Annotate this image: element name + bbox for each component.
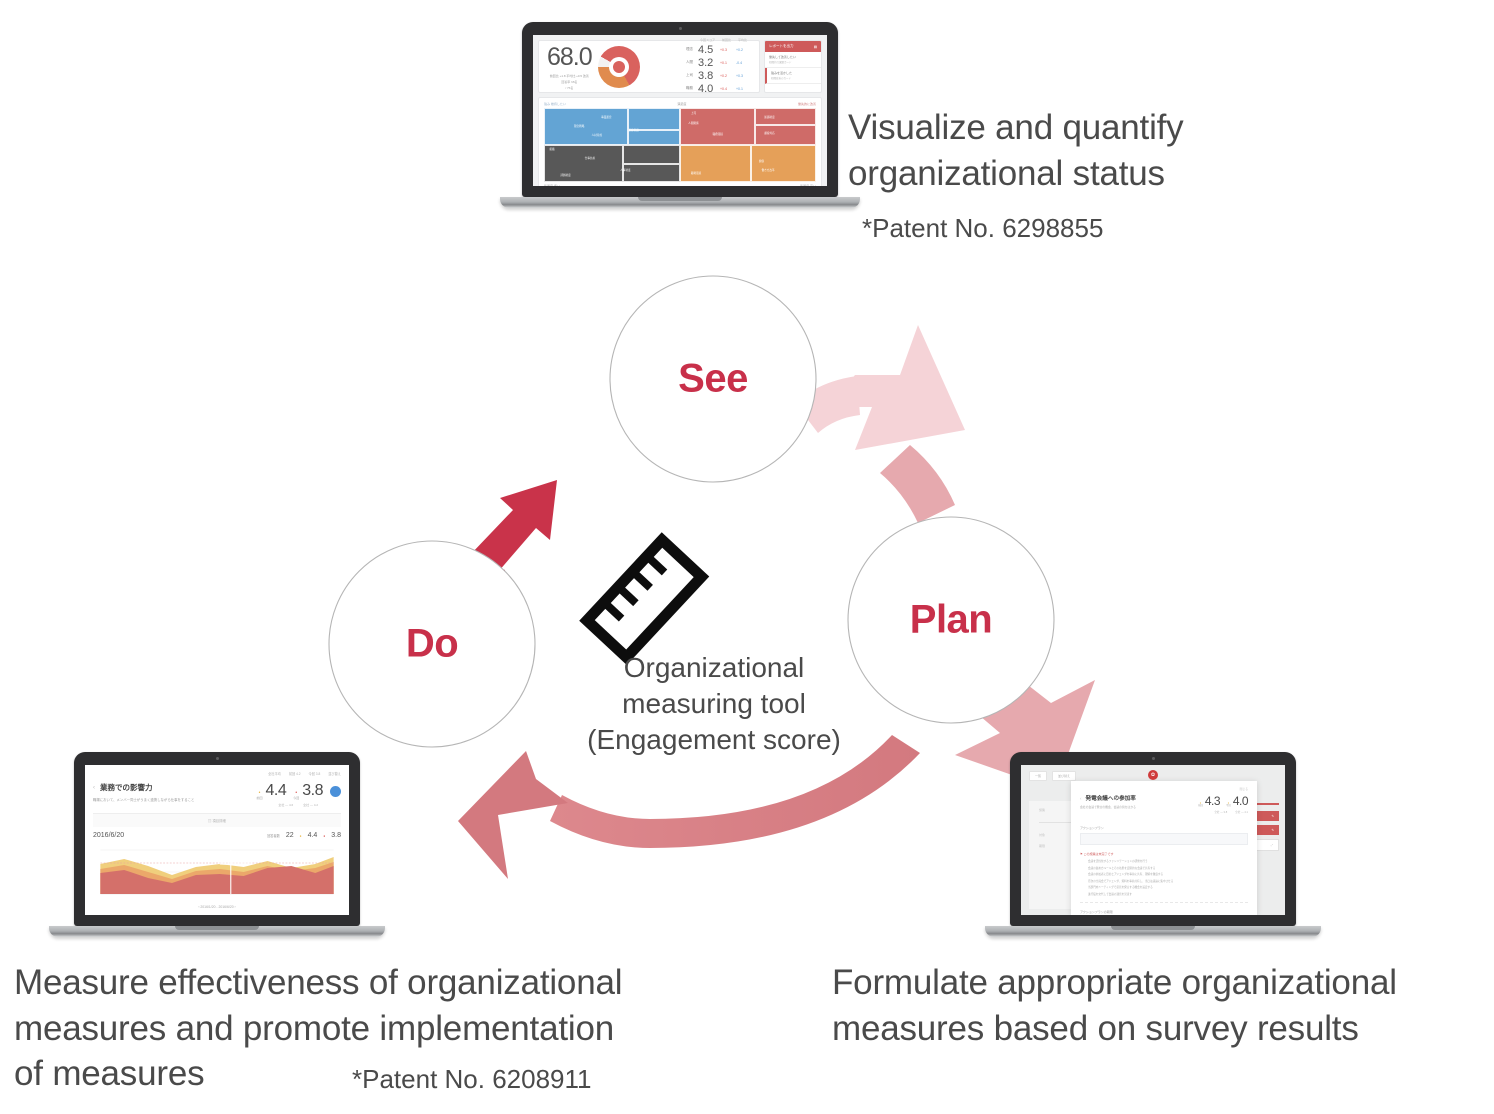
- red-dot-icon: ●: [323, 834, 325, 838]
- treemap-label-improve: 優先的に改善: [798, 102, 816, 106]
- toolbar-item[interactable]: 全社平均: [268, 771, 281, 776]
- toolbar-item[interactable]: 並び替え: [328, 771, 341, 776]
- treemap-quadrant-blue[interactable]: 事業運営 理念戦略 人材育成 顧客意識: [544, 108, 680, 145]
- metrics-table: 今回スコア 前回比 平均比 理念 4.5 +0.3 +0.2: [683, 38, 747, 96]
- laptop-notch: [638, 197, 722, 201]
- modal-description: 会社の会議で発言の機会、会議の質をはかる: [1080, 805, 1136, 809]
- donut-chart: [598, 46, 640, 88]
- chart-date: 2016/6/20: [93, 832, 124, 839]
- score-previous: •前回 4.3: [1198, 794, 1220, 808]
- score-label: •前回: [1198, 801, 1203, 808]
- pencil-icon: ✎: [1271, 828, 1274, 832]
- list-item[interactable]: 会議の参加者に目的とアジェンダを事前に共有、理解を徹底する: [1088, 872, 1248, 876]
- diagram-canvas: 68.0 前回比 +1.8 平均比 +0.5 改善 回答率 68名 / 75名 …: [0, 0, 1494, 1114]
- legend-value-2: 3.8: [331, 832, 341, 839]
- metric-label: 人間: [683, 60, 693, 65]
- score-label: •今回: [1226, 801, 1231, 808]
- cycle-node-label-do[interactable]: Do: [406, 622, 458, 667]
- avatar[interactable]: [330, 786, 341, 797]
- metric-avg-delta: +0.2: [736, 48, 747, 52]
- overall-score: 68.0: [547, 43, 592, 72]
- page-title: 業務での影響力: [100, 782, 153, 793]
- list-item-title: 強みを活かした: [771, 71, 817, 75]
- suggestion-list: 会議を活性化するファシリテーションの研修を行う 会議の進め方ルールとその効果を定…: [1080, 859, 1248, 896]
- field-label-deadline: アクションプランの期限: [1080, 910, 1248, 914]
- cycle-center-caption: Organizational measuring tool (Engagemen…: [587, 650, 841, 757]
- modal-score-subtexts: 全社 — 3.8 全社 — 4.1: [1080, 810, 1248, 814]
- modal-header: ‹ 発電会議への参加率 会社の会議で発言の機会、会議の質をはかる •前回 4.3: [1080, 794, 1248, 809]
- score-current: •今回 4.0: [1226, 794, 1248, 808]
- metrics-col-avg: 平均比: [738, 38, 747, 42]
- laptop-lid: 68.0 前回比 +1.8 平均比 +0.5 改善 回答率 68名 / 75名 …: [522, 22, 838, 197]
- table-row: 職務 4.0 +0.4 +0.1: [683, 83, 747, 95]
- metric-value: 3.8: [698, 70, 715, 82]
- table-row: 人間 3.2 +0.1 -0.4: [683, 57, 747, 69]
- metric-value: 4.0: [698, 83, 715, 95]
- list-item-sub: 組織的な課題カード: [769, 60, 817, 64]
- list-item[interactable]: 会議を活性化するファシリテーションの研修を行う: [1088, 859, 1248, 863]
- caption-formulate: Formulate appropriate organizational mea…: [832, 960, 1397, 1051]
- action-plan-modal: 閉じる ‹ 発電会議への参加率 会社の会議で発言の機会、会議の質をはかる •前回: [1071, 781, 1257, 915]
- metric-delta: +0.2: [720, 74, 731, 78]
- treemap-label-high-impact: 影響度 高い: [800, 184, 816, 186]
- score-current: •今回 3.8: [293, 782, 323, 800]
- treemap-card: 強み 維持したい 満足度 優先的に改善 事業運営 理念戦略 人材育成 顧客意識: [538, 97, 822, 186]
- laptop-lid: 全社平均 前回 4.2 今回 3.8 並び替え ‹ 業務での影響力 職場において…: [74, 752, 360, 926]
- field-label-action-plan: アクションプラン: [1080, 826, 1248, 830]
- score-value: 4.4: [265, 782, 286, 800]
- laptop-base: [49, 926, 385, 937]
- legend-count-label: 回答者数: [267, 833, 280, 838]
- score-sub-previous: 全社 — 4.6: [278, 803, 293, 807]
- chart-legend: 回答者数 22 ● 4.4 ● 3.8: [267, 832, 341, 839]
- metric-label: 職務: [683, 86, 693, 91]
- list-item-title: 優先して改善したい: [769, 55, 817, 59]
- alert-text: この施策は未完了です: [1084, 852, 1114, 856]
- score-group: •前回 4.4 •今回 3.8: [256, 782, 341, 800]
- cycle-node-label-see[interactable]: See: [678, 357, 748, 402]
- treemap-quadrant-gray[interactable]: 組織 仕事負担 評価制度 人事制度: [544, 145, 680, 182]
- treemap-quadrant-red[interactable]: 上司 人間関係 職務環境 処遇制度 顧客対応: [680, 108, 816, 145]
- laptop-screen: 一覧 並び替え 施策 対象 期限 編集する ✎ 削除する: [1021, 765, 1285, 915]
- laptop-mockup-action-plan: 一覧 並び替え 施策 対象 期限 編集する ✎ 削除する: [1010, 752, 1296, 937]
- metric-delta: +0.3: [720, 48, 731, 52]
- list-item[interactable]: 会議の進め方ルールとその効果を定期的な会議で共有する: [1088, 866, 1248, 870]
- webcam-icon: [216, 757, 219, 760]
- treemap-label-satisfaction: 満足度: [677, 102, 686, 106]
- score-sub-current: 全社 — 4.1: [1235, 810, 1248, 814]
- metric-delta: +0.1: [720, 61, 731, 65]
- score-sub-current: 全社 — 4.2: [303, 803, 318, 807]
- arrow-plan-segment: [880, 445, 955, 523]
- report-side-panel: レポートを出力 ▤ 優先して改善したい 組織的な課題カード 強みを活かした 組織…: [764, 40, 822, 93]
- laptop-mockup-trend: 全社平均 前回 4.2 今回 3.8 並び替え ‹ 業務での影響力 職場において…: [74, 752, 360, 937]
- table-row: 理念 4.5 +0.3 +0.2: [683, 44, 747, 56]
- metrics-col-score: 今回スコア: [700, 38, 715, 42]
- section-divider[interactable]: ▤ 項目詳細: [93, 813, 341, 827]
- treemap-bottom-labels: 影響度 低い 影響度 高い: [544, 184, 816, 186]
- score-note-2: / 75名: [547, 86, 592, 90]
- report-export-button[interactable]: レポートを出力 ▤: [765, 41, 821, 52]
- chart-header: 2016/6/20 回答者数 22 ● 4.4 ● 3.8: [93, 832, 341, 839]
- legend-value-1: 4.4: [308, 832, 318, 839]
- caption-visualize: Visualize and quantify organizational st…: [848, 105, 1183, 196]
- metric-label: 理念: [683, 47, 693, 52]
- score-note-1: 回答率 68名: [547, 80, 592, 84]
- section-divider-label: 項目詳細: [212, 819, 226, 823]
- download-icon: ▤: [814, 45, 817, 49]
- score-label: •前回: [256, 791, 262, 800]
- treemap-label-strength: 強み 維持したい: [544, 102, 566, 106]
- laptop-screen: 全社平均 前回 4.2 今回 3.8 並び替え ‹ 業務での影響力 職場において…: [85, 765, 349, 915]
- score-subtext: 前回比 +1.8 平均比 +0.5 改善: [547, 74, 592, 78]
- toolbar-chip[interactable]: 並び替え: [1052, 771, 1076, 781]
- alert-message: ⚑ この施策は未完了です: [1080, 852, 1248, 856]
- metric-label: 上司: [683, 73, 693, 78]
- laptop-screen: 68.0 前回比 +1.8 平均比 +0.5 改善 回答率 68名 / 75名 …: [533, 35, 827, 186]
- toolbar-item[interactable]: 今回 3.8: [309, 771, 321, 776]
- close-modal-button[interactable]: 閉じる: [1080, 787, 1248, 791]
- webcam-icon: [679, 27, 682, 30]
- ruler-icon: [587, 540, 702, 657]
- score-sub-previous: 全社 — 3.8: [1214, 810, 1227, 814]
- laptop-lid: 一覧 並び替え 施策 対象 期限 編集する ✎ 削除する: [1010, 752, 1296, 926]
- laptop-notch: [175, 926, 259, 930]
- chevron-right-icon[interactable]: ›: [234, 905, 236, 909]
- report-export-label: レポートを出力: [769, 44, 794, 49]
- toolbar: 全社平均 前回 4.2 今回 3.8 並び替え: [93, 771, 341, 776]
- detail-header: ‹ 業務での影響力 職場において、メンバー同士がうまく連携しながら仕事をすること…: [93, 782, 341, 802]
- chevron-left-icon[interactable]: ‹: [1080, 796, 1082, 801]
- score-value: 4.0: [1233, 794, 1248, 808]
- arrow-see-to-plan: [795, 325, 965, 450]
- list-item[interactable]: 優先して改善したい 組織的な課題カード: [765, 52, 821, 68]
- edit-icon: ✎: [1271, 814, 1274, 818]
- area-chart: 施策を実施した: [93, 842, 341, 902]
- treemap-label-low-impact: 影響度 低い: [544, 184, 560, 186]
- list-item-sub: 組織改善のカード: [771, 76, 817, 80]
- metric-value: 4.5: [698, 44, 715, 56]
- laptop-mockup-dashboard: 68.0 前回比 +1.8 平均比 +0.5 改善 回答率 68名 / 75名 …: [522, 22, 838, 208]
- chart-annotation: 施策を実施した: [222, 854, 240, 858]
- metrics-col-delta: 前回比: [722, 38, 731, 42]
- notification-icon[interactable]: ✿: [1148, 770, 1158, 780]
- treemap-top-labels: 強み 維持したい 満足度 優先的に改善: [544, 102, 816, 106]
- webcam-icon: [1152, 757, 1155, 760]
- toolbar-item[interactable]: 前回 4.2: [289, 771, 301, 776]
- list-item[interactable]: 強みを活かした 組織改善のカード: [765, 68, 821, 84]
- patent-note-bottom-left: *Patent No. 6208911: [352, 1064, 591, 1095]
- metric-avg-delta: +0.3: [736, 74, 747, 78]
- score-subtexts: 全社 — 4.6 全社 — 4.2: [93, 803, 341, 807]
- score-label: •今回: [293, 791, 299, 800]
- expand-icon: ⤢: [1271, 843, 1273, 847]
- list-item[interactable]: 当部門内ミーティングで意見を発言する機会を設定する: [1088, 885, 1248, 889]
- legend-count: 22: [286, 832, 294, 839]
- date-range-label: 2016/1/20 - 2016/6/20: [200, 905, 233, 909]
- metric-delta: +0.4: [720, 87, 731, 91]
- toolbar-chip[interactable]: 一覧: [1029, 771, 1047, 781]
- modal-score-group: •前回 4.3 •今回 4.0: [1198, 794, 1248, 808]
- treemap-quadrant-orange[interactable]: 職場環境 健康 働き方改革: [680, 145, 816, 182]
- page-description: 職場において、メンバー同士がうまく連携しながら仕事をすること: [93, 797, 194, 802]
- score-value: 4.3: [1205, 794, 1220, 808]
- yellow-dot-icon: ●: [300, 834, 302, 838]
- donut-center-marker: [613, 61, 625, 73]
- laptop-base: [985, 926, 1321, 937]
- chart-date-range: ‹ 2016/1/20 - 2016/6/20 ›: [93, 905, 341, 909]
- list-item[interactable]: 進行役を交代して会議の運営を見直す: [1088, 892, 1248, 896]
- score-value: 3.8: [302, 782, 323, 800]
- score-previous: •前回 4.4: [256, 782, 286, 800]
- action-plan-input[interactable]: [1080, 833, 1248, 845]
- patent-note-top: *Patent No. 6298855: [862, 213, 1103, 244]
- score-summary-card: 68.0 前回比 +1.8 平均比 +0.5 改善 回答率 68名 / 75名 …: [538, 40, 760, 93]
- metrics-header: 今回スコア 前回比 平均比: [683, 38, 747, 42]
- treemap-chart: 事業運営 理念戦略 人材育成 顧客意識 上司 人間関係 職務環境: [544, 108, 816, 182]
- metric-avg-delta: -0.4: [736, 61, 747, 65]
- chevron-left-icon[interactable]: ‹: [93, 785, 95, 791]
- table-row: 上司 3.8 +0.2 +0.3: [683, 70, 747, 82]
- modal-title: 発電会議への参加率: [1086, 794, 1136, 802]
- cycle-node-label-plan[interactable]: Plan: [910, 598, 992, 643]
- laptop-notch: [1111, 926, 1195, 930]
- laptop-base: [500, 197, 860, 208]
- metric-value: 3.2: [698, 57, 715, 69]
- metric-avg-delta: +0.1: [736, 87, 747, 91]
- list-item[interactable]: 月次の全員会でアジェンダ、資料を事前共有し、当日は議論に集中させる: [1088, 879, 1248, 883]
- divider: [1080, 902, 1248, 903]
